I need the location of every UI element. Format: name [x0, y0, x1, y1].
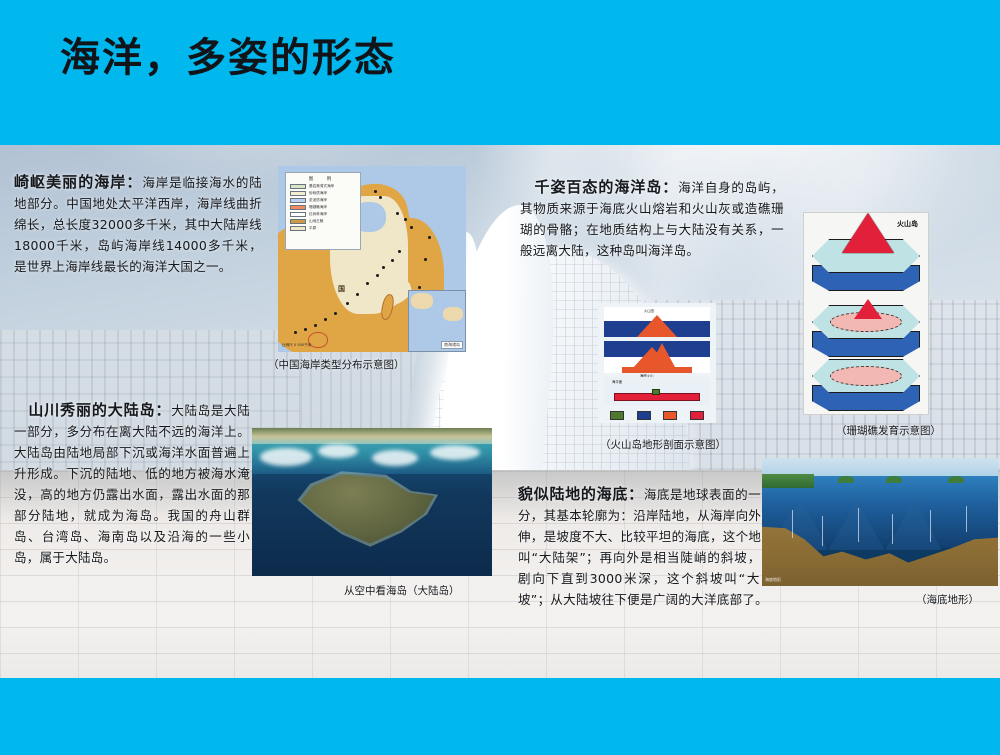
caption-coral-reef: （珊瑚礁发育示意图）	[836, 423, 941, 438]
map-legend-row: 珊瑚礁海岸	[290, 205, 356, 210]
panel3-label: 海平面	[612, 379, 622, 384]
coral-reef-image: 火山岛	[803, 212, 929, 415]
coral-stage-3	[812, 359, 920, 415]
figure-coral-reef[interactable]: 火山岛	[803, 212, 929, 415]
text-block-continental-island: 山川秀丽的大陆岛：大陆岛是大陆一部分，多分布在离大陆不远的海洋上。大陆岛由陆地局…	[14, 400, 250, 568]
legend-swatch	[290, 226, 306, 231]
map-legend-row: 平原	[290, 226, 356, 231]
legend-swatch	[290, 191, 306, 196]
legend-label: 珊瑚礁海岸	[309, 205, 327, 210]
legend-label: 红树林海岸	[309, 212, 327, 217]
page-title: 海洋，多姿的形态	[60, 34, 396, 82]
map-legend-row: 红树林海岸	[290, 212, 356, 217]
aerial-island-image	[252, 428, 492, 576]
figure-seabed-profile[interactable]: 海底地形	[762, 458, 998, 586]
map-legend-row: 山地丘陵	[290, 219, 356, 224]
caption-aerial-island: 从空中看海岛（大陆岛）	[344, 583, 460, 598]
text-block-continental-island-lead: 山川秀丽的大陆岛：	[28, 401, 171, 419]
panel2-volcanic-cone-b	[648, 343, 676, 369]
slide-root: 海洋，多姿的形态 崎岖美丽的海岸：海岸是临接海水的陆地部分。中国地处太平洋西岸，…	[0, 0, 1000, 755]
stage1-volcanic-cone	[842, 213, 894, 253]
panel1-volcanic-cone	[637, 315, 677, 337]
legend-label: 山地丘陵	[309, 219, 323, 224]
stage2-volcanic-remnant	[854, 299, 882, 319]
coral-stage-2	[812, 305, 920, 361]
legend-label: 淤泥质海岸	[309, 198, 327, 203]
text-block-coast: 崎岖美丽的海岸：海岸是临接海水的陆地部分。中国地处太平洋西岸，海岸线曲折绵长，总…	[14, 172, 262, 277]
volcano-legend-swatch	[663, 411, 677, 420]
stage3-lagoon	[830, 366, 902, 386]
inset-land-a	[411, 293, 433, 309]
map-label-guo: 国	[338, 284, 345, 294]
coral-stage-1	[812, 239, 920, 295]
legend-swatch	[290, 219, 306, 224]
map-legend-row: 基岩港湾式海岸	[290, 184, 356, 189]
volcano-panel-3: 海平面	[604, 377, 710, 405]
volcano-legend-swatch	[637, 411, 651, 420]
panel1-label: 火山岛	[644, 308, 654, 313]
caption-coast-map: （中国海岸类型分布示意图）	[268, 357, 405, 372]
caption-seabed-profile: （海底地形）	[916, 592, 979, 607]
legend-label: 砂砾质海岸	[309, 191, 327, 196]
legend-swatch	[290, 198, 306, 203]
map-legend-title: 图 例	[290, 176, 356, 182]
legend-swatch	[290, 184, 306, 189]
volcano-legend	[604, 411, 710, 420]
figure-aerial-island[interactable]	[252, 428, 492, 576]
annotation-leader-lines	[762, 458, 998, 586]
seabed-corner-label: 海底地形	[765, 577, 781, 583]
text-block-continental-island-body: 大陆岛是大陆一部分，多分布在离大陆不远的海洋上。大陆岛由陆地局部下沉或海洋水面普…	[14, 403, 250, 565]
map-legend-row: 淤泥质海岸	[290, 198, 356, 203]
coral-volcanic-island-label: 火山岛	[897, 219, 918, 229]
volcano-profile-image: 火山岛 海底火山 海平面	[598, 303, 716, 423]
text-block-seabed-body: 海底是地球表面的一部分，其基本轮廓为：沿岸陆地，从海岸向外延伸，是坡度不大、比较…	[518, 487, 774, 607]
coast-map-image: 中 国 图 例 基岩港湾式海岸 砂砾质海岸 淤泥质海岸 珊瑚礁海岸 红树林海岸 …	[278, 166, 466, 352]
seabed-profile-image: 海底地形	[762, 458, 998, 586]
cloud-layer	[252, 442, 492, 476]
panel2-lava-base	[622, 367, 692, 373]
volcano-legend-swatch	[690, 411, 704, 420]
text-block-coast-lead: 崎岖美丽的海岸：	[14, 173, 142, 191]
volcano-legend-swatch	[610, 411, 624, 420]
volcano-panel-1: 火山岛	[604, 307, 710, 337]
map-legend-row: 砂砾质海岸	[290, 191, 356, 196]
map-inset-label: 南海诸岛	[441, 341, 463, 349]
figure-coast-map[interactable]: 中 国 图 例 基岩港湾式海岸 砂砾质海岸 淤泥质海岸 珊瑚礁海岸 红树林海岸 …	[278, 166, 466, 352]
caption-volcano-profile: （火山岛地形剖面示意图）	[600, 437, 726, 452]
volcano-panel-2: 海底火山	[604, 341, 710, 373]
map-legend: 图 例 基岩港湾式海岸 砂砾质海岸 淤泥质海岸 珊瑚礁海岸 红树林海岸 山地丘陵…	[285, 172, 361, 250]
map-scale-note: 比例尺 0 500千米	[282, 343, 311, 348]
map-inset-south-china-sea: 南海诸岛	[408, 290, 466, 352]
text-block-oceanic-island-lead: 千姿百态的海洋岛：	[534, 178, 678, 196]
panel3-reef-marker	[652, 389, 660, 395]
footer-band	[0, 678, 1000, 755]
inset-land-b	[443, 307, 463, 321]
text-block-seabed-lead: 貌似陆地的海底：	[518, 485, 644, 503]
text-block-oceanic-island: 千姿百态的海洋岛：海洋自身的岛屿，其物质来源于海底火山熔岩和火山灰或造礁珊瑚的骨…	[520, 177, 784, 261]
legend-label: 平原	[309, 226, 316, 231]
legend-label: 基岩港湾式海岸	[309, 184, 334, 189]
figure-volcano-profile[interactable]: 火山岛 海底火山 海平面	[598, 303, 716, 423]
text-block-seabed: 貌似陆地的海底：海底是地球表面的一部分，其基本轮廓为：沿岸陆地，从海岸向外延伸，…	[518, 484, 774, 610]
legend-swatch	[290, 205, 306, 210]
legend-swatch	[290, 212, 306, 217]
